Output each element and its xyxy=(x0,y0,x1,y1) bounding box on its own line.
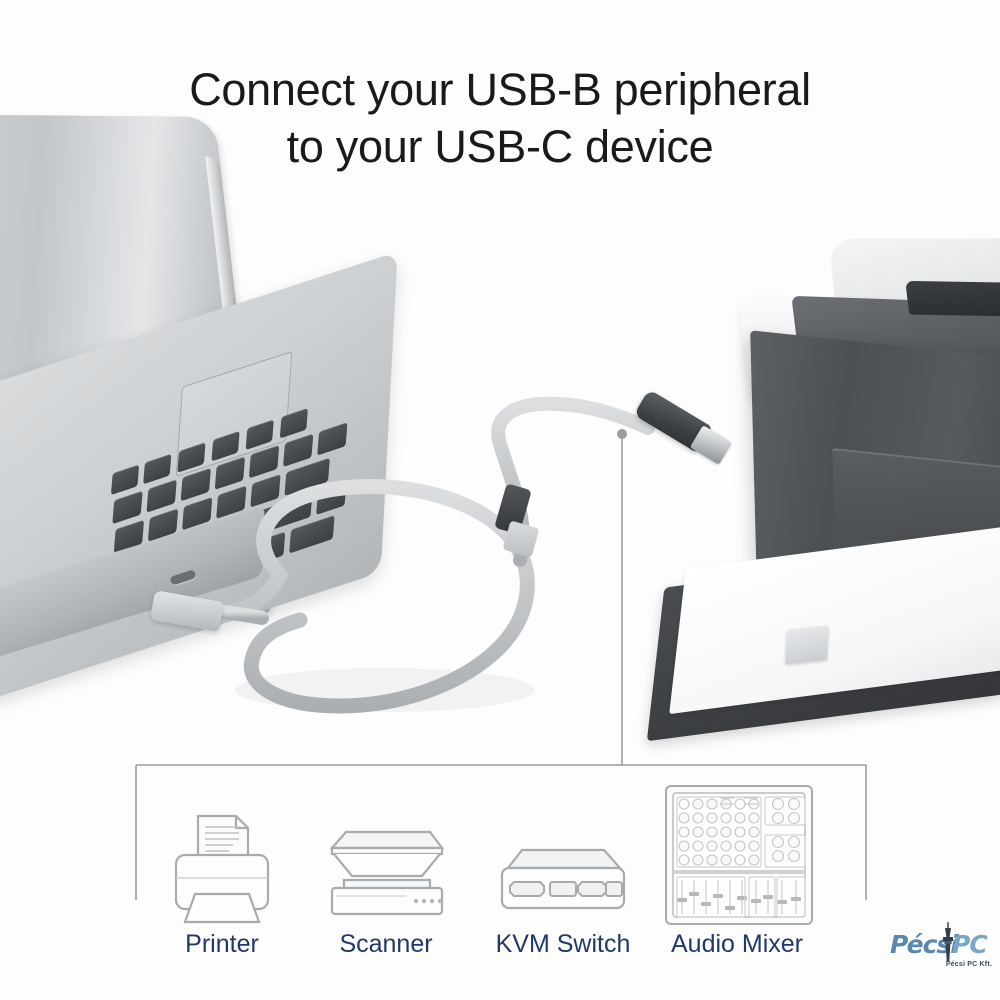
audio-mixer-icon[interactable] xyxy=(660,780,818,930)
label-audio-mixer: Audio Mixer xyxy=(654,930,820,959)
label-kvm-switch: KVM Switch xyxy=(480,930,646,959)
logo-word-pc: PC xyxy=(952,930,987,959)
label-printer: Printer xyxy=(162,930,282,959)
brand-logo[interactable]: Pécsi PC Pécsi PC Kft. xyxy=(890,928,994,980)
kvm-switch-icon[interactable] xyxy=(492,790,634,930)
scanner-icon[interactable] xyxy=(320,790,452,930)
printer-icon[interactable] xyxy=(162,790,282,930)
callout-anchor-dot xyxy=(617,429,627,439)
product-marketing-image: Connect your USB-B peripheral to your US… xyxy=(0,0,1000,1000)
label-scanner: Scanner xyxy=(320,930,452,959)
logo-subtitle: Pécsi PC Kft. xyxy=(946,961,992,968)
compatible-devices-icons xyxy=(0,770,1000,930)
device-labels: Printer Scanner KVM Switch Audio Mixer xyxy=(0,930,1000,970)
